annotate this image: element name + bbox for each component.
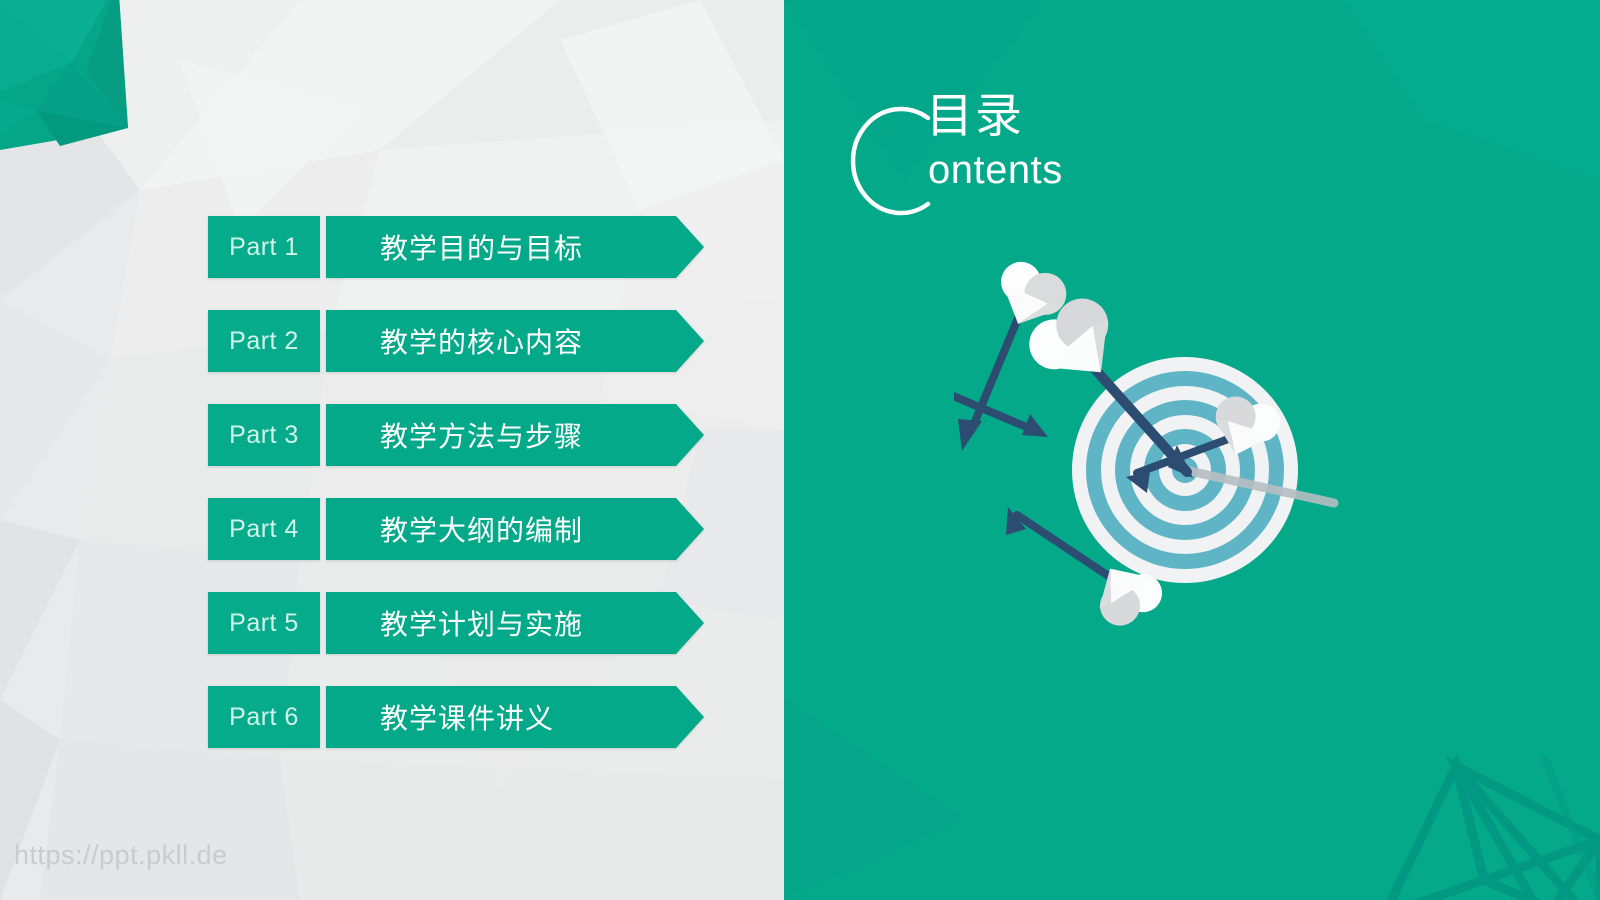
title-plate[interactable]: 教学课件讲义	[326, 686, 704, 748]
list-item[interactable]: Part 4 教学大纲的编制	[208, 498, 704, 560]
slide-canvas: Part 1 教学目的与目标 Part 2 教学的核心内容 Part 3	[0, 0, 1600, 900]
section-title: 教学计划与实施	[380, 603, 583, 643]
part-label: Part 6	[229, 703, 299, 732]
list-item[interactable]: Part 6 教学课件讲义	[208, 686, 704, 748]
part-chip[interactable]: Part 3	[208, 404, 320, 466]
part-chip[interactable]: Part 4	[208, 498, 320, 560]
left-content-panel: Part 1 教学目的与目标 Part 2 教学的核心内容 Part 3	[0, 0, 784, 900]
title-plate[interactable]: 教学大纲的编制	[326, 498, 704, 560]
list-item[interactable]: Part 3 教学方法与步骤	[208, 404, 704, 466]
title-plate[interactable]: 教学方法与步骤	[326, 404, 704, 466]
right-accent-panel: 目录 ontents	[784, 0, 1600, 900]
part-chip[interactable]: Part 2	[208, 310, 320, 372]
part-label: Part 5	[229, 609, 299, 638]
section-title: 教学的核心内容	[380, 321, 583, 361]
list-item[interactable]: Part 5 教学计划与实施	[208, 592, 704, 654]
section-title: 教学目的与目标	[380, 227, 583, 267]
part-label: Part 2	[229, 327, 299, 356]
section-title: 教学课件讲义	[380, 697, 554, 737]
page-title-cn: 目录	[926, 92, 1024, 139]
title-plate[interactable]: 教学计划与实施	[326, 592, 704, 654]
page-title-en: ontents	[928, 150, 1063, 190]
part-chip[interactable]: Part 5	[208, 592, 320, 654]
part-chip[interactable]: Part 6	[208, 686, 320, 748]
section-title: 教学大纲的编制	[380, 509, 583, 549]
list-item[interactable]: Part 2 教学的核心内容	[208, 310, 704, 372]
title-plate[interactable]: 教学目的与目标	[326, 216, 704, 278]
page-title: 目录 ontents	[824, 96, 1124, 226]
part-label: Part 1	[229, 233, 299, 262]
part-label: Part 3	[229, 421, 299, 450]
part-chip[interactable]: Part 1	[208, 216, 320, 278]
section-title: 教学方法与步骤	[380, 415, 583, 455]
dartboard-illustration	[954, 245, 1484, 745]
list-item[interactable]: Part 1 教学目的与目标	[208, 216, 704, 278]
watermark-url: https://ppt.pkll.de	[14, 840, 228, 871]
contents-list: Part 1 教学目的与目标 Part 2 教学的核心内容 Part 3	[208, 216, 704, 748]
title-plate[interactable]: 教学的核心内容	[326, 310, 704, 372]
part-label: Part 4	[229, 515, 299, 544]
corner-star-decoration	[0, 0, 200, 180]
